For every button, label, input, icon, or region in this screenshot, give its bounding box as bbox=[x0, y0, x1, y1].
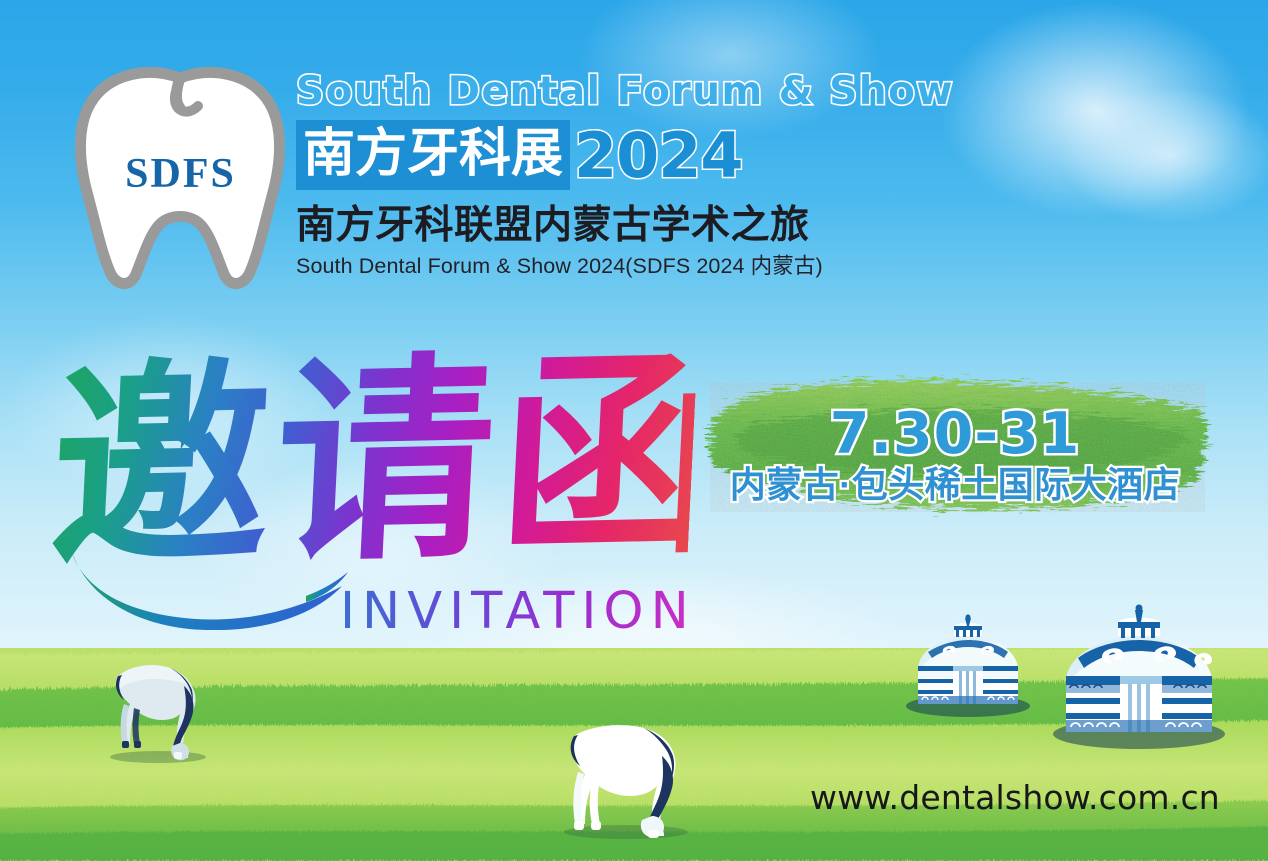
calligraphy-block: 邀请函 INVITATION bbox=[52, 348, 692, 648]
title-english: South Dental Forum & Show bbox=[296, 70, 916, 114]
title-chinese: 南方牙科展 bbox=[296, 120, 570, 190]
invitation-label: INVITATION bbox=[340, 584, 696, 640]
invitation-poster: SDFS South Dental Forum & Show 南方牙科展 202… bbox=[0, 0, 1268, 861]
horse-center bbox=[538, 714, 708, 844]
date-venue-block: 7.30-31 内蒙古·包头稀土国际大酒店 bbox=[690, 368, 1220, 558]
tooth-logo: SDFS bbox=[68, 64, 293, 292]
subtitle-chinese: 南方牙科联盟内蒙古学术之旅 bbox=[296, 204, 916, 248]
subtitle-english: South Dental Forum & Show 2024(SDFS 2024… bbox=[296, 253, 916, 279]
title-row: 南方牙科展 2024 bbox=[296, 118, 916, 190]
event-venue: 内蒙古·包头稀土国际大酒店 bbox=[690, 464, 1220, 506]
yurt-large bbox=[1044, 600, 1234, 750]
title-year: 2024 bbox=[574, 122, 743, 190]
logo-acronym: SDFS bbox=[68, 150, 293, 198]
calligraphy-invitation-chinese: 邀请函 bbox=[46, 341, 698, 586]
website-url: www.dentalshow.com.cn bbox=[810, 779, 1220, 817]
horse-left bbox=[96, 648, 226, 768]
event-date: 7.30-31 bbox=[690, 402, 1220, 466]
yurt-small bbox=[898, 608, 1038, 718]
header-block: South Dental Forum & Show 南方牙科展 2024 南方牙… bbox=[296, 70, 916, 279]
